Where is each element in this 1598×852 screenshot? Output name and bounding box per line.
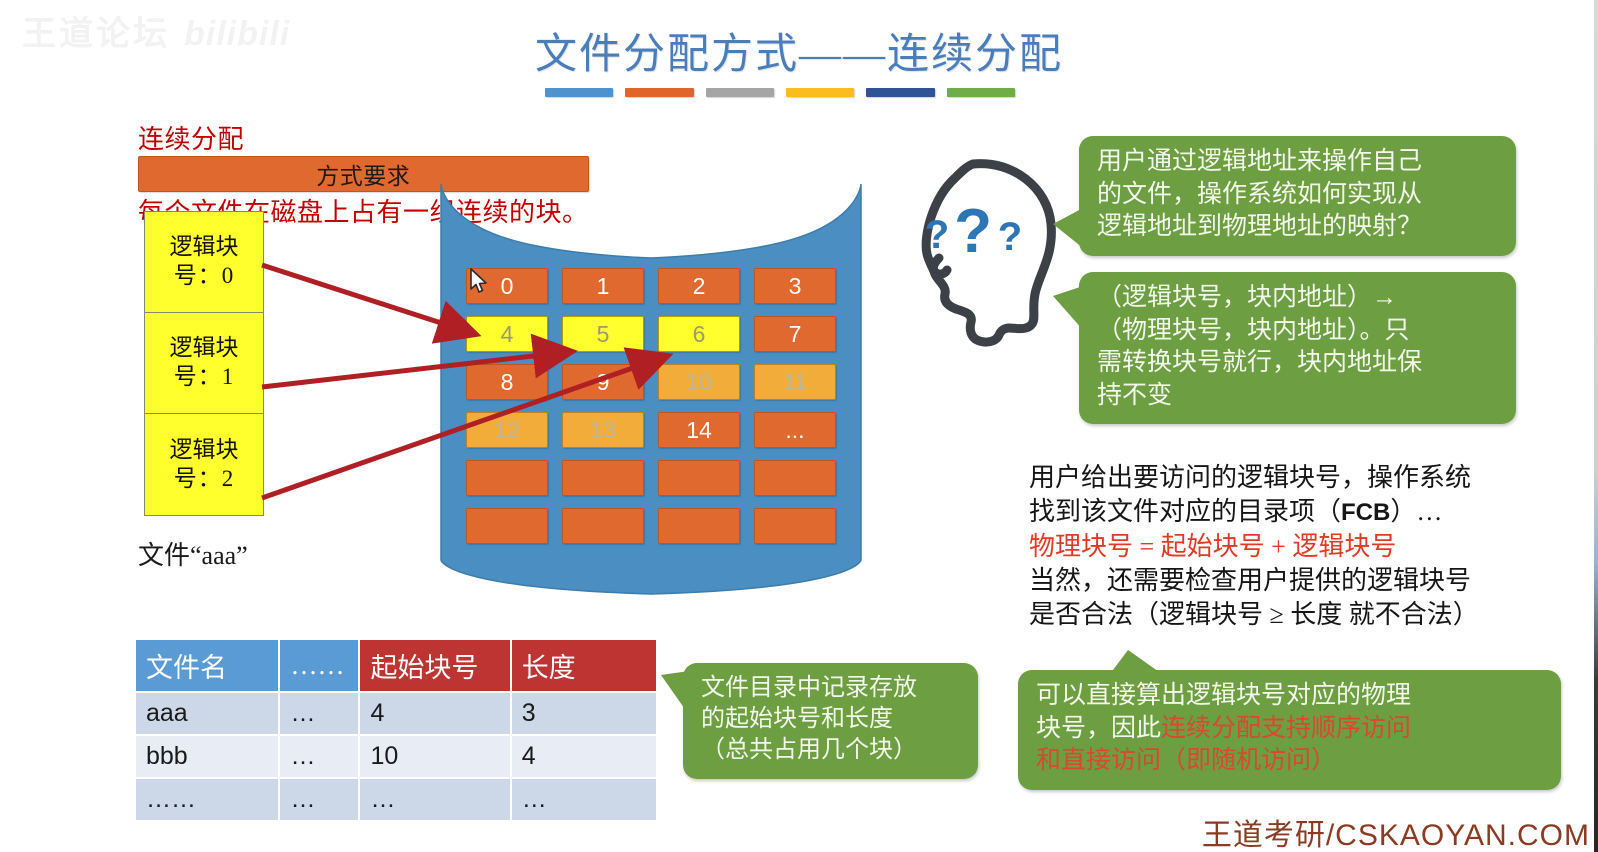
page-title: 文件分配方式——连续分配 [0,20,1598,81]
cell-start-block: 4 [359,692,510,735]
callout-directory-note: 文件目录中记录存放 的起始块号和长度 （总共占用几个块） [683,663,978,779]
disk-block-ellipsis: ... [754,412,836,448]
callout-dir-line1: 文件目录中记录存放 [701,673,962,704]
table-row: aaa … 4 3 [135,692,657,735]
title-bar-6 [947,88,1015,97]
disk-block-3: 3 [754,268,836,304]
cell-filename: …… [135,778,279,821]
svg-text:?: ? [925,213,949,257]
logical-block-2-line2: 号：2 [174,465,235,494]
logical-block-column: 逻辑块 号：0 逻辑块 号：1 逻辑块 号：2 [144,211,264,516]
callout-tail-icon [1053,208,1083,248]
table-row: bbb … 10 4 [135,735,657,778]
cell-filename: aaa [135,692,279,735]
explanation-fcb: FCB [1341,499,1390,526]
explanation-line-1: 用户给出要访问的逻辑块号，操作系统 [1029,461,1589,495]
cell-length: 4 [511,735,657,778]
cell-length: … [511,778,657,821]
callout-access-line2: 块号，因此连续分配支持顺序访问 [1036,713,1545,746]
title-bar-1 [545,88,613,97]
explanation-line-2: 找到该文件对应的目录项（FCB）… [1029,495,1589,529]
disk-block-empty-2 [562,460,644,496]
logical-block-0-line1: 逻辑块 [170,233,239,262]
table-header-ellipsis: …… [279,639,359,692]
disk-block-11: 11 [754,364,836,400]
table-header-start-block: 起始块号 [359,639,510,692]
disk-block-6: 6 [658,316,740,352]
cell-ellipsis: … [279,735,359,778]
callout-rule-line4: 持不变 [1097,380,1500,413]
disk-block-empty-8 [754,508,836,544]
explanation-formula: 物理块号 = 起始块号 + 逻辑块号 [1029,530,1589,564]
cell-filename: bbb [135,735,279,778]
disk-block-14: 14 [658,412,740,448]
subtitle-part-1: 连续分配 [138,125,244,154]
slide-canvas: 王道论坛bilibili 文件分配方式——连续分配 连续分配方式要求每个文件在磁… [0,0,1598,852]
callout-access-note: 可以直接算出逻辑块号对应的物理 块号，因此连续分配支持顺序访问 和直接访问（即随… [1018,670,1561,790]
disk-block-8: 8 [466,364,548,400]
callout-question-mapping: 用户通过逻辑地址来操作自己 的文件，操作系统如何实现从 逻辑地址到物理地址的映射… [1079,136,1516,256]
mouse-cursor-icon [470,268,490,296]
disk-block-10: 10 [658,364,740,400]
footer-branding: 王道考研/CSKAOYAN.COM [1202,810,1590,852]
cell-start-block: 10 [359,735,510,778]
table-header-row: 文件名 …… 起始块号 长度 [135,639,657,692]
callout-tail-icon [1110,650,1162,674]
callout-rule-line2: （物理块号，块内地址）。只 [1097,315,1500,348]
cell-ellipsis: … [279,778,359,821]
explanation-line-2c: ）… [1390,497,1442,526]
disk-block-empty-1 [466,460,548,496]
disk-block-empty-3 [658,460,740,496]
disk-block-empty-7 [658,508,740,544]
callout-access-line2-highlight: 连续分配支持顺序访问 [1161,715,1411,742]
disk-block-13: 13 [562,412,644,448]
title-underline-bars [545,88,1015,97]
cell-length: 3 [511,692,657,735]
logical-block-1-line2: 号：1 [174,363,235,392]
logical-block-0-line2: 号：0 [174,262,235,291]
callout-mapping-rule: （逻辑块号，块内地址）→ （物理块号，块内地址）。只 需转换块号就行，块内地址保… [1079,272,1516,424]
logical-block-2-line1: 逻辑块 [170,436,239,465]
table-row: …… … … … [135,778,657,821]
title-bar-2 [625,88,693,97]
callout-dir-line2: 的起始块号和长度 [701,704,962,735]
callout-access-line3-highlight: 和直接访问（即随机访问） [1036,745,1545,778]
callout-dir-line3: （总共占用几个块） [701,735,962,766]
player-edge [1594,0,1598,852]
callout-access-line1: 可以直接算出逻辑块号对应的物理 [1036,680,1545,713]
disk-illustration: 0 1 2 3 4 5 6 7 8 9 10 11 12 13 14 ... [437,168,865,597]
callout-rule-line1: （逻辑块号，块内地址）→ [1097,282,1500,315]
file-name-caption: 文件“aaa” [138,535,248,572]
callout-q-line1: 用户通过逻辑地址来操作自己 [1097,146,1500,179]
disk-block-empty-5 [466,508,548,544]
explanation-paragraph: 用户给出要访问的逻辑块号，操作系统 找到该文件对应的目录项（FCB）… 物理块号… [1029,461,1589,633]
callout-q-line2: 的文件，操作系统如何实现从 [1097,179,1500,212]
disk-block-empty-4 [754,460,836,496]
title-bar-3 [706,88,774,97]
logical-block-0: 逻辑块 号：0 [145,212,263,313]
callout-q-line3: 逻辑地址到物理地址的映射？ [1097,211,1500,244]
disk-block-9: 9 [562,364,644,400]
logical-block-2: 逻辑块 号：2 [145,414,263,515]
table-header-length: 长度 [511,639,657,692]
disk-block-7: 7 [754,316,836,352]
disk-block-4: 4 [466,316,548,352]
disk-block-5: 5 [562,316,644,352]
title-bar-5 [866,88,934,97]
callout-tail-icon [1053,286,1083,330]
svg-text:?: ? [998,215,1022,259]
logical-block-1-line1: 逻辑块 [170,334,239,363]
file-directory-table: 文件名 …… 起始块号 长度 aaa … 4 3 bbb … 10 4 …… …… [134,638,658,822]
disk-block-12: 12 [466,412,548,448]
disk-block-empty-6 [562,508,644,544]
explanation-line-5: 是否合法（逻辑块号 ≥ 长度 就不合法） [1029,598,1589,632]
cell-start-block: … [359,778,510,821]
callout-tail-icon [661,671,689,715]
svg-text:?: ? [954,197,992,266]
disk-block-grid: 0 1 2 3 4 5 6 7 8 9 10 11 12 13 14 ... [466,268,836,544]
cell-ellipsis: … [279,692,359,735]
explanation-line-4: 当然，还需要检查用户提供的逻辑块号 [1029,564,1589,598]
callout-rule-line3: 需转换块号就行，块内地址保 [1097,347,1500,380]
disk-block-1: 1 [562,268,644,304]
callout-access-line2-plain: 块号，因此 [1036,715,1161,742]
disk-block-2: 2 [658,268,740,304]
logical-block-1: 逻辑块 号：1 [145,313,263,414]
title-bar-4 [786,88,854,97]
explanation-line-2a: 找到该文件对应的目录项（ [1029,497,1341,526]
table-header-filename: 文件名 [135,639,279,692]
